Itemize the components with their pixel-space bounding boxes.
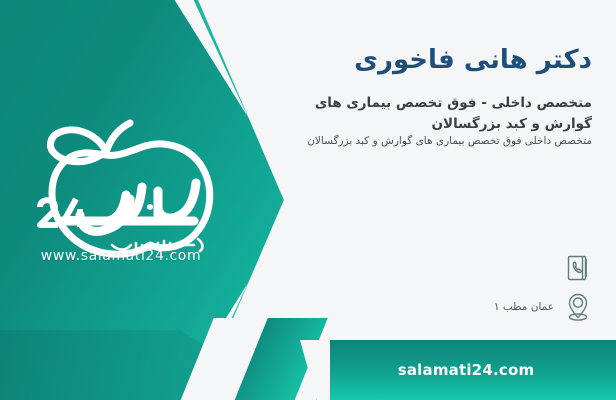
business-card: www.salamati24.com دکتر هانی فاخوری متخص… (0, 0, 616, 400)
location-pin-icon[interactable] (562, 290, 594, 324)
phone-contact-row[interactable] (554, 252, 594, 286)
address-label: عمان مطب ۱ (494, 301, 554, 313)
doctor-description: متخصص داخلی فوق تخصص بیماری های گوارش و … (292, 133, 592, 150)
footer-website[interactable]: salamati24.com (398, 361, 535, 379)
footer-bar: salamati24.com (316, 340, 616, 400)
doctor-name: دکتر هانی فاخوری (262, 44, 592, 77)
phonebook-icon[interactable] (562, 252, 594, 286)
address-contact-row[interactable]: عمان مطب ۱ (494, 290, 594, 324)
doctor-specialty: متخصص داخلی - فوق تخصص بیماری های گوارش … (282, 93, 592, 135)
logo-website-url: www.salamati24.com (26, 248, 216, 264)
